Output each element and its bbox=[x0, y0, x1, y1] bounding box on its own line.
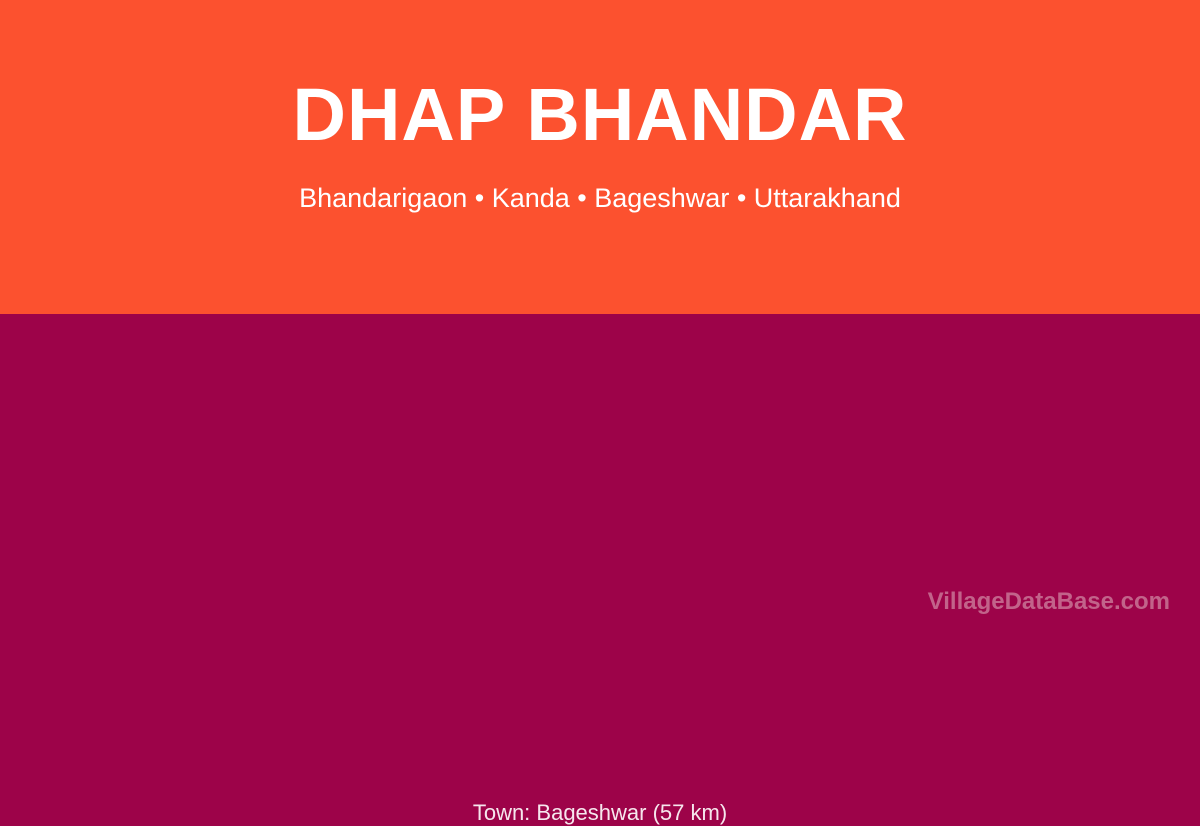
site-watermark: VillageDataBase.com bbox=[928, 588, 1170, 616]
nearest-town-label: Town: Bageshwar (57 km) bbox=[0, 800, 1200, 826]
details-band: Town: Bageshwar (57 km) bbox=[0, 314, 1200, 630]
location-breadcrumb: Bhandarigaon • Kanda • Bageshwar • Uttar… bbox=[0, 182, 1200, 214]
page-title: DHAP BHANDAR bbox=[0, 78, 1200, 152]
info-card: DHAP BHANDAR Bhandarigaon • Kanda • Bage… bbox=[0, 0, 1200, 630]
header-band: DHAP BHANDAR Bhandarigaon • Kanda • Bage… bbox=[0, 0, 1200, 314]
